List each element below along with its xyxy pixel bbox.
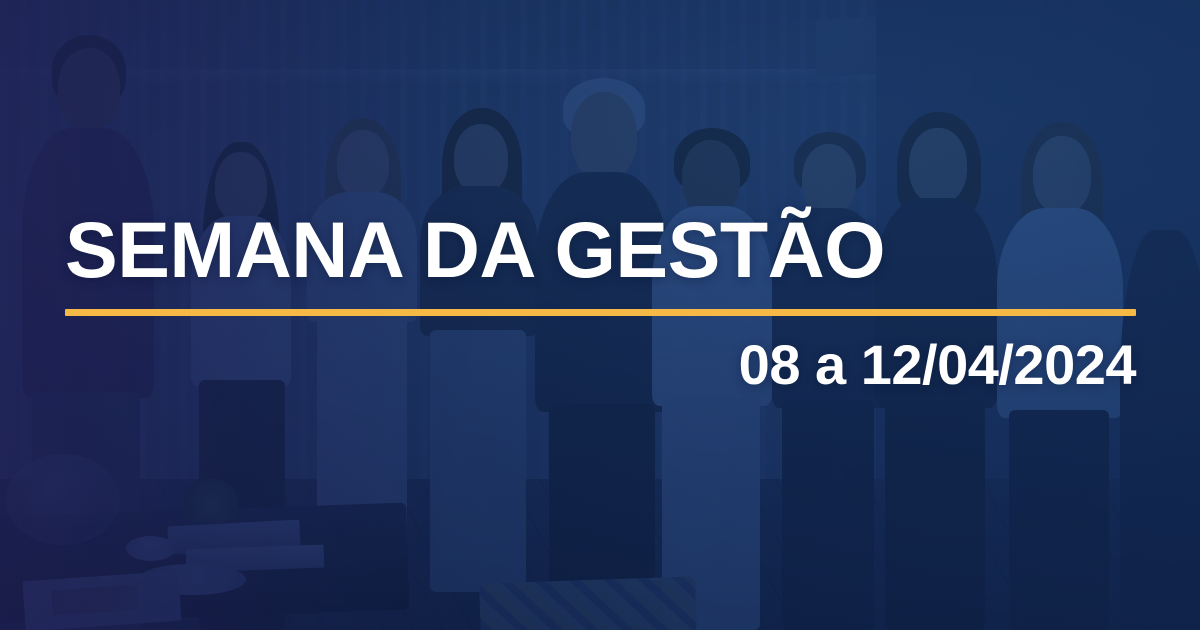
banner-title: SEMANA DA GESTÃO bbox=[65, 212, 1136, 288]
accent-divider bbox=[65, 309, 1136, 316]
event-banner: SEMANA DA GESTÃO 08 a 12/04/2024 bbox=[0, 0, 1200, 630]
banner-content: SEMANA DA GESTÃO 08 a 12/04/2024 bbox=[65, 212, 1136, 393]
banner-date-range: 08 a 12/04/2024 bbox=[65, 337, 1136, 393]
